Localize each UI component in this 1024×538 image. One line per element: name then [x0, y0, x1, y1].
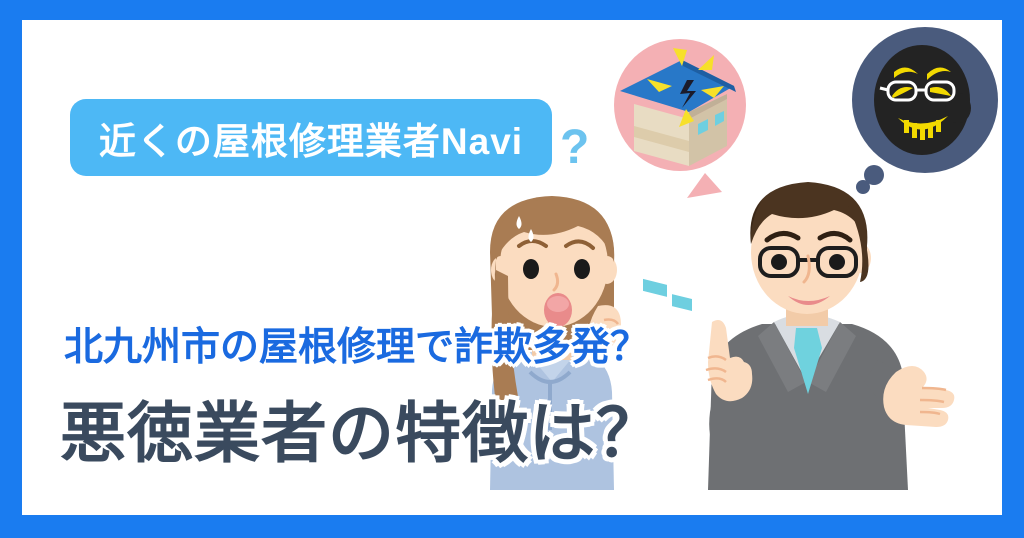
poster-canvas: 近くの屋根修理業者Navi ? 北九州市の屋根修理で詐欺多発？ 悪徳業者の特徴は…	[22, 20, 1002, 515]
site-name-label: 近くの屋根修理業者Navi	[99, 111, 523, 165]
question-mark-decoration: ?	[560, 124, 589, 172]
thought-bubble-scam-face	[852, 27, 998, 194]
headline-subtitle: 北九州市の屋根修理で詐欺多発？	[64, 316, 649, 372]
poster-frame: 近くの屋根修理業者Navi ? 北九州市の屋根修理で詐欺多発？ 悪徳業者の特徴は…	[0, 0, 1024, 538]
speech-bubble-damaged-house	[614, 39, 746, 311]
headline-title: 悪徳業者の特徴は？	[60, 380, 663, 476]
site-name-badge[interactable]: 近くの屋根修理業者Navi	[70, 99, 552, 176]
house-icon	[620, 48, 736, 311]
pointing-businessman-illustration	[706, 182, 954, 490]
open-hand-icon	[883, 366, 954, 427]
